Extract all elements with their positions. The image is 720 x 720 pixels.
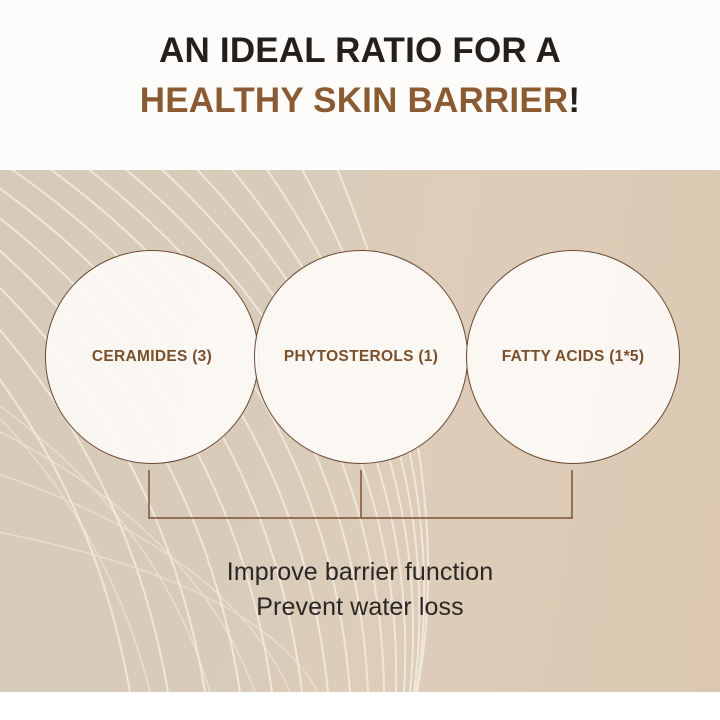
page-title-exclamation: !: [568, 81, 580, 120]
component-circle-fatty-acids[interactable]: FATTY ACIDS (1*5): [466, 250, 680, 464]
page-title-line-1: AN IDEAL RATIO FOR A: [159, 26, 561, 76]
page-title-line-2: HEALTHY SKIN BARRIER!: [140, 76, 580, 126]
header-banner: AN IDEAL RATIO FOR A HEALTHY SKIN BARRIE…: [0, 0, 720, 170]
component-circle-ceramides[interactable]: CERAMIDES (3): [45, 250, 259, 464]
benefit-line-2: Prevent water loss: [0, 590, 720, 625]
component-label-ceramides: CERAMIDES (3): [92, 348, 212, 366]
component-label-phytosterols: PHYTOSTEROLS (1): [284, 348, 438, 366]
diagram-panel: CERAMIDES (3) PHYTOSTEROLS (1) FATTY ACI…: [0, 170, 720, 692]
footer-strip: [0, 692, 720, 720]
benefit-line-1: Improve barrier function: [0, 555, 720, 590]
page-title-line-2-text: HEALTHY SKIN BARRIER: [140, 81, 569, 120]
benefits-block: Improve barrier function Prevent water l…: [0, 555, 720, 625]
component-label-fatty-acids: FATTY ACIDS (1*5): [502, 348, 645, 366]
infographic-root: AN IDEAL RATIO FOR A HEALTHY SKIN BARRIE…: [0, 0, 720, 720]
component-circle-phytosterols[interactable]: PHYTOSTEROLS (1): [254, 250, 468, 464]
